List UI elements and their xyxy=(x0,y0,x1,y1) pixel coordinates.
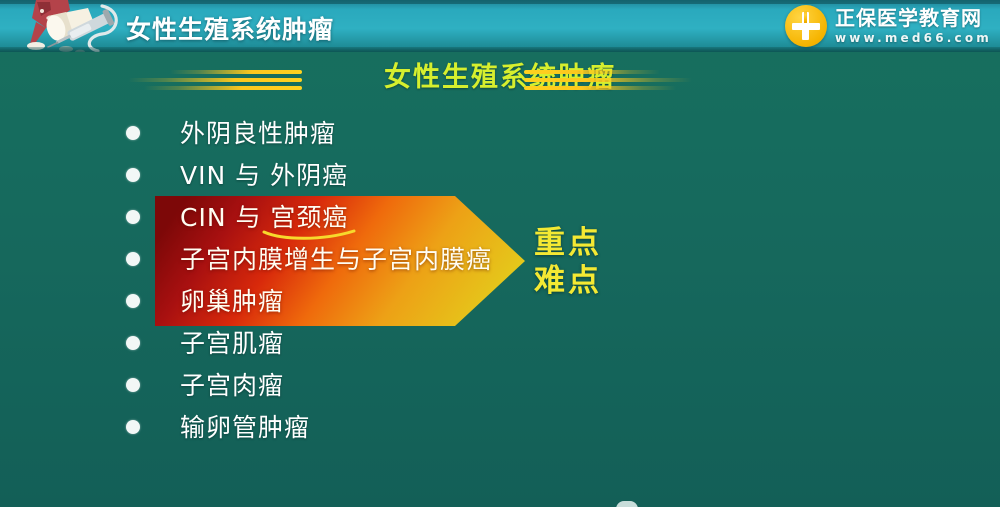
list-item[interactable]: CIN 与 宫颈癌 xyxy=(0,196,1000,238)
list-item[interactable]: 外阴良性肿瘤 xyxy=(0,112,1000,154)
key-note-block: 重点 难点 xyxy=(534,224,602,300)
list-item-label: 子宫肌瘤 xyxy=(180,324,284,360)
bullet-icon xyxy=(126,168,140,182)
yellow-circle-cross-logo-icon xyxy=(785,5,827,47)
brand-logo: 正保医学教育网 www.med66.com xyxy=(785,2,992,50)
bullet-icon xyxy=(126,336,140,350)
list-item-label: 外阴良性肿瘤 xyxy=(180,114,336,150)
partial-control-nub-icon[interactable] xyxy=(616,501,638,507)
outline-list: 外阴良性肿瘤 VIN 与 外阴癌 CIN 与 宫颈癌 子宫内膜增生与子宫内膜癌 … xyxy=(0,112,1000,448)
list-item[interactable]: VIN 与 外阴癌 xyxy=(0,154,1000,196)
speed-lines-right-icon xyxy=(524,58,692,98)
bullet-icon xyxy=(126,252,140,266)
list-item[interactable]: 子宫内膜增生与子宫内膜癌 xyxy=(0,238,1000,280)
bullet-icon xyxy=(126,210,140,224)
bullet-icon xyxy=(126,378,140,392)
list-item-label: VIN 与 外阴癌 xyxy=(180,156,348,192)
list-item-label: 子宫肉瘤 xyxy=(180,366,284,402)
key-note-line-1: 重点 xyxy=(534,224,602,262)
header-bottom-edge xyxy=(0,47,1000,52)
list-item-label: 子宫内膜增生与子宫内膜癌 xyxy=(180,240,492,276)
header-title: 女性生殖系统肿瘤 xyxy=(126,10,334,46)
list-item[interactable]: 卵巢肿瘤 xyxy=(0,280,1000,322)
brand-name: 正保医学教育网 xyxy=(835,8,992,28)
slide-title: 女性生殖系统肿瘤 xyxy=(0,58,1000,98)
key-note-line-2: 难点 xyxy=(534,262,602,300)
bullet-icon xyxy=(126,294,140,308)
medical-supplies-illustration-icon xyxy=(6,0,126,52)
list-item[interactable]: 子宫肌瘤 xyxy=(0,322,1000,364)
slide-canvas: 女性生殖系统肿瘤 正保医学教育网 www.med66.com 女性生殖系统肿瘤 xyxy=(0,0,1000,507)
logo-notch xyxy=(804,11,807,23)
header-bar: 女性生殖系统肿瘤 正保医学教育网 www.med66.com xyxy=(0,0,1000,52)
list-item[interactable]: 子宫肉瘤 xyxy=(0,364,1000,406)
bullet-icon xyxy=(126,126,140,140)
list-item-label: 输卵管肿瘤 xyxy=(180,408,310,444)
brand-text-block: 正保医学教育网 www.med66.com xyxy=(835,8,992,44)
slide-title-row: 女性生殖系统肿瘤 xyxy=(0,58,1000,100)
hand-drawn-underline-icon xyxy=(262,228,372,242)
list-item[interactable]: 输卵管肿瘤 xyxy=(0,406,1000,448)
bullet-icon xyxy=(126,420,140,434)
list-item-label: 卵巢肿瘤 xyxy=(180,282,284,318)
brand-url: www.med66.com xyxy=(835,32,992,44)
